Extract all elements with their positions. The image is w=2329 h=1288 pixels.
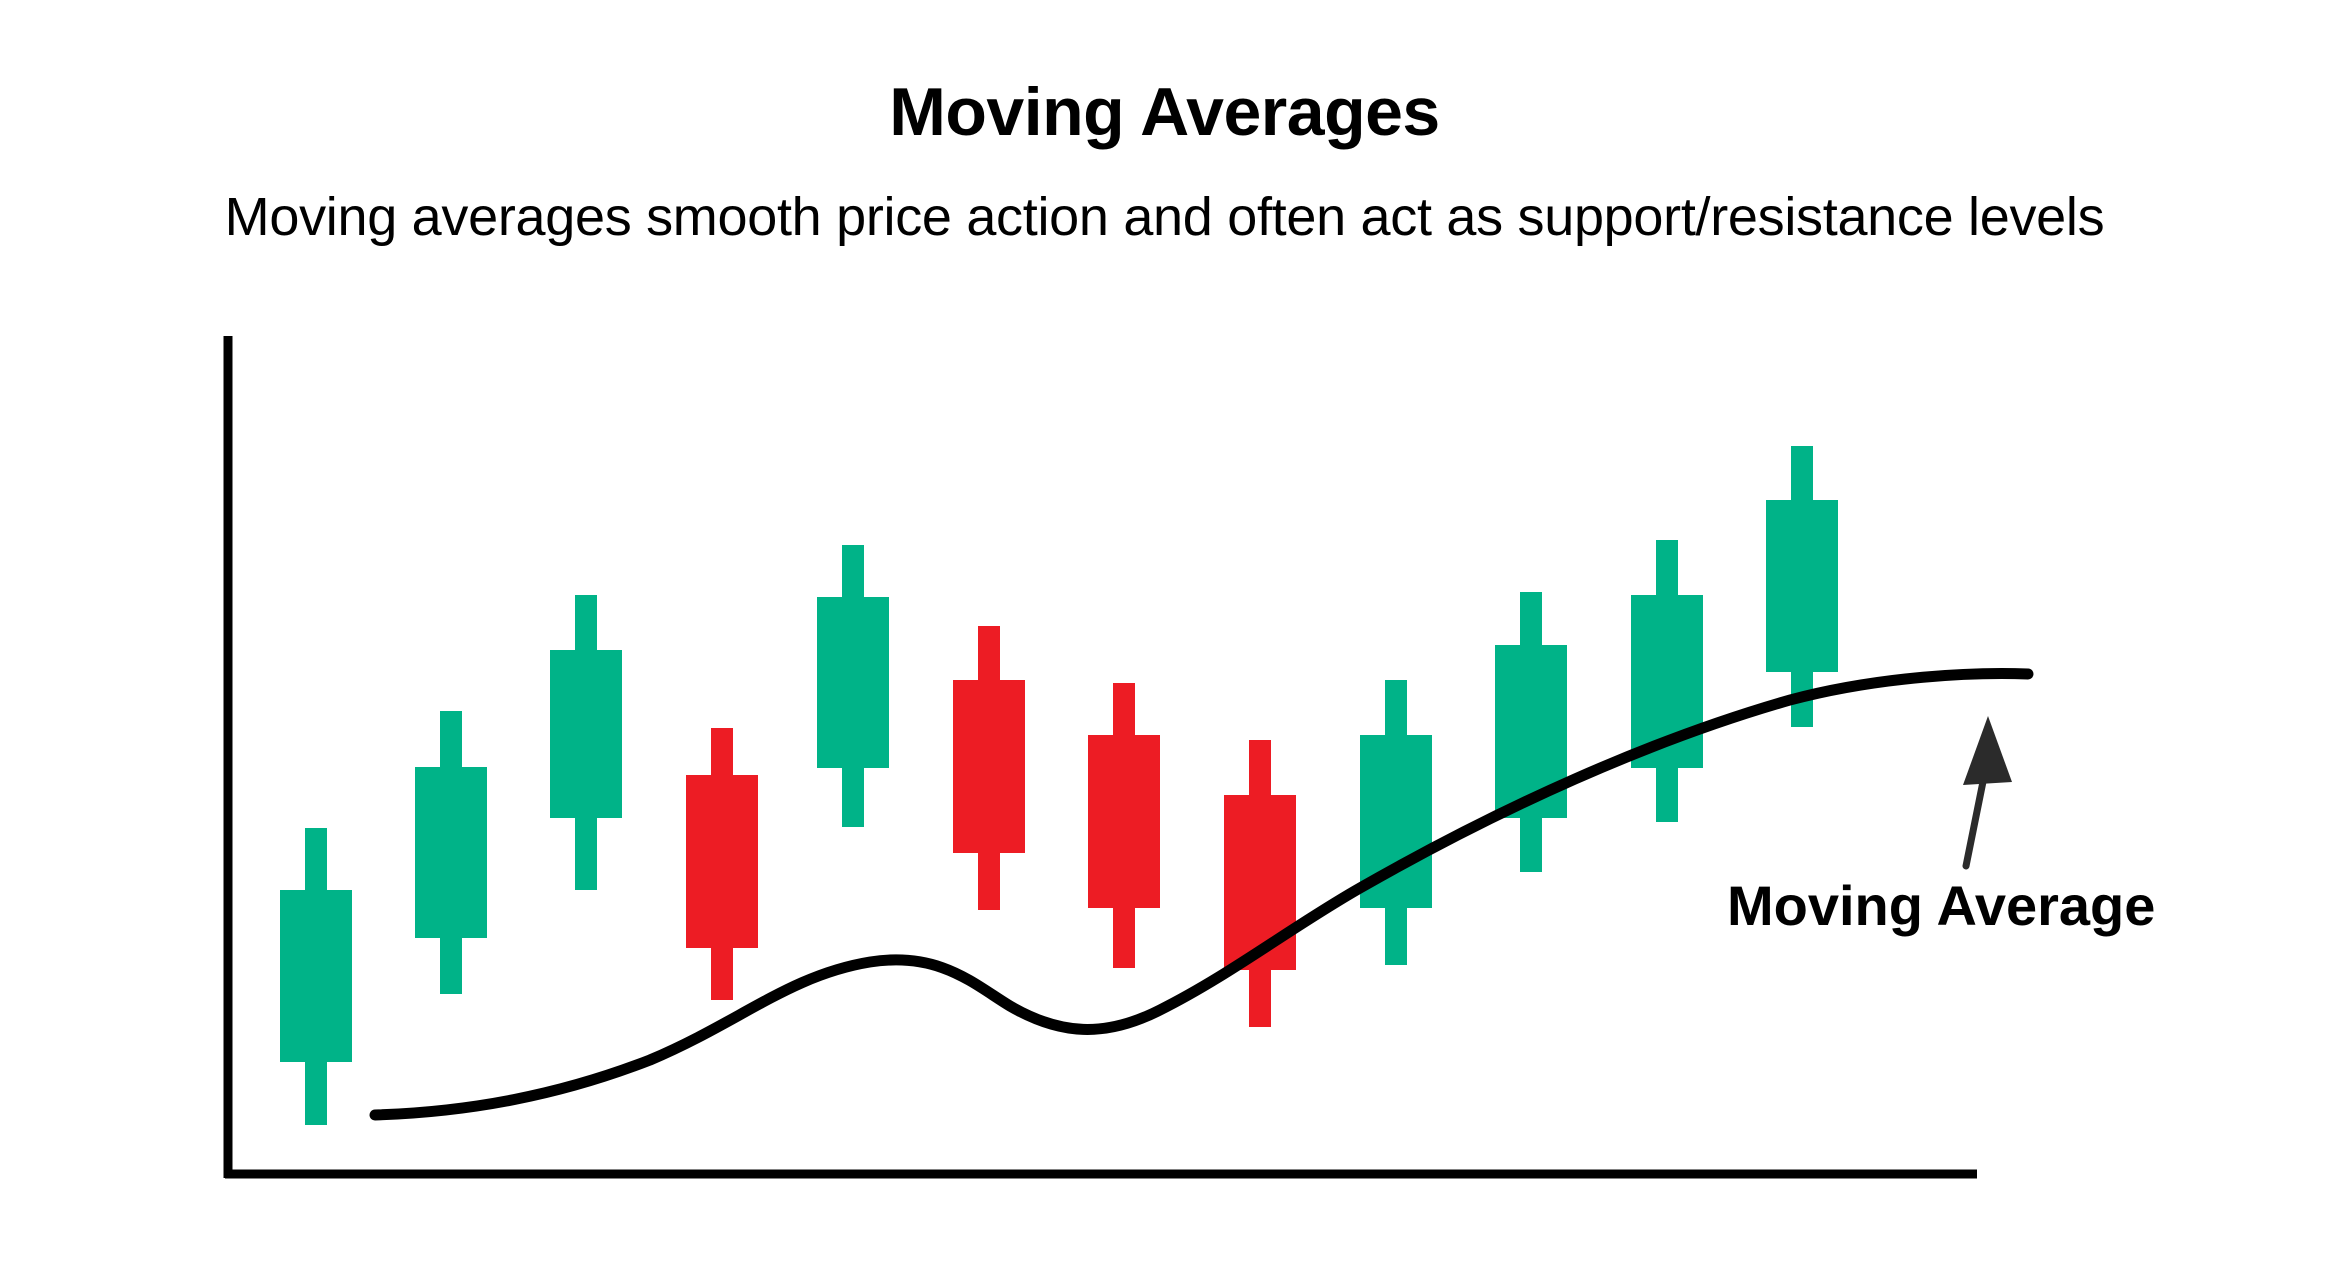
candle-body [415,767,487,938]
candle-body [1088,735,1160,908]
candle-body [1224,795,1296,970]
chart-canvas: Moving Averages Moving averages smooth p… [0,0,2329,1288]
candlestick-plot [0,0,2329,1288]
candle-body [817,597,889,768]
moving-average-annotation-label: Moving Average [1727,878,2155,934]
arrow-head-icon [1963,716,2012,785]
candle-body [280,890,352,1062]
candle-body [686,775,758,948]
annotation-arrow [1963,716,2012,866]
candle-body [953,680,1025,853]
candle-body [1766,500,1838,672]
candle-body [550,650,622,818]
